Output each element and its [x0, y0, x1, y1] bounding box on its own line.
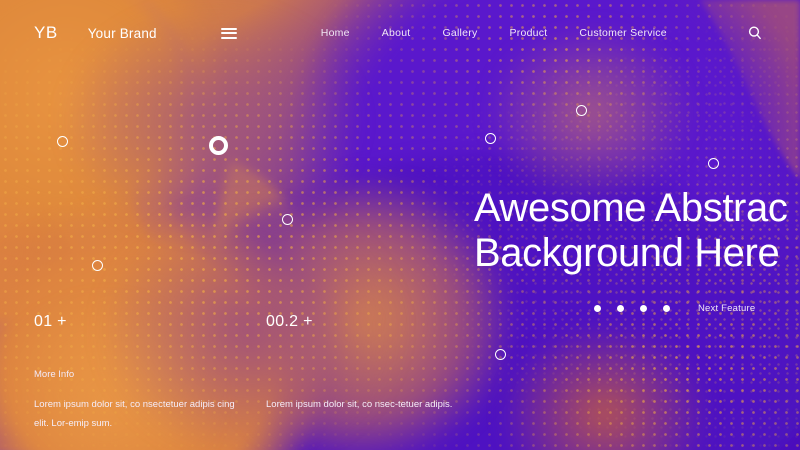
pagination-dot[interactable] — [617, 305, 624, 312]
brand-name[interactable]: Your Brand — [88, 26, 157, 41]
search-icon[interactable] — [744, 22, 766, 44]
more-info-link[interactable]: More Info — [34, 369, 266, 381]
circle-ring-icon — [282, 214, 293, 225]
nav-link-about[interactable]: About — [382, 27, 411, 39]
pagination-dots — [594, 305, 670, 312]
hero-heading: Awesome Abstrac Background Here — [474, 186, 800, 276]
stat-item: 01 + More Info Lorem ipsum dolor sit, co… — [34, 313, 266, 434]
stats-row: 01 + More Info Lorem ipsum dolor sit, co… — [34, 313, 554, 434]
stat-value: 00.2 + — [266, 313, 498, 331]
nav-link-home[interactable]: Home — [321, 27, 350, 39]
circle-ring-icon — [708, 158, 719, 169]
stat-description: Lorem ipsum dolor sit, co nsectetuer adi… — [34, 395, 246, 434]
stat-description: Lorem ipsum dolor sit, co nsec-tetuer ad… — [266, 395, 478, 414]
nav-link-customer-service[interactable]: Customer Service — [579, 27, 666, 39]
circle-ring-icon — [209, 136, 228, 155]
hero-heading-line-2: Background Here — [474, 231, 800, 276]
hero-heading-line-1: Awesome Abstrac — [474, 186, 800, 231]
circle-ring-icon — [576, 105, 587, 116]
pagination-dot[interactable] — [640, 305, 647, 312]
circle-ring-icon — [485, 133, 496, 144]
pagination-dot[interactable] — [594, 305, 601, 312]
nav-link-gallery[interactable]: Gallery — [442, 27, 477, 39]
next-feature-link[interactable]: Next Feature — [698, 303, 755, 314]
hero-landing-page: YB Your Brand HomeAboutGalleryProductCus… — [0, 0, 800, 450]
nav-link-product[interactable]: Product — [509, 27, 547, 39]
pagination-dot[interactable] — [663, 305, 670, 312]
stat-item: 00.2 + Lorem ipsum dolor sit, co nsec-te… — [266, 313, 498, 434]
stat-value: 01 + — [34, 313, 266, 331]
hamburger-icon[interactable] — [221, 28, 237, 39]
circle-ring-icon — [92, 260, 103, 271]
hamburger-line — [221, 37, 237, 39]
navbar: YB Your Brand HomeAboutGalleryProductCus… — [0, 0, 800, 66]
carousel-pager: Next Feature — [594, 303, 755, 314]
nav-links: HomeAboutGalleryProductCustomer Service — [321, 27, 667, 39]
hamburger-line — [221, 28, 237, 30]
logo[interactable]: YB — [34, 23, 58, 43]
hamburger-line — [221, 32, 237, 34]
circle-ring-icon — [57, 136, 68, 147]
